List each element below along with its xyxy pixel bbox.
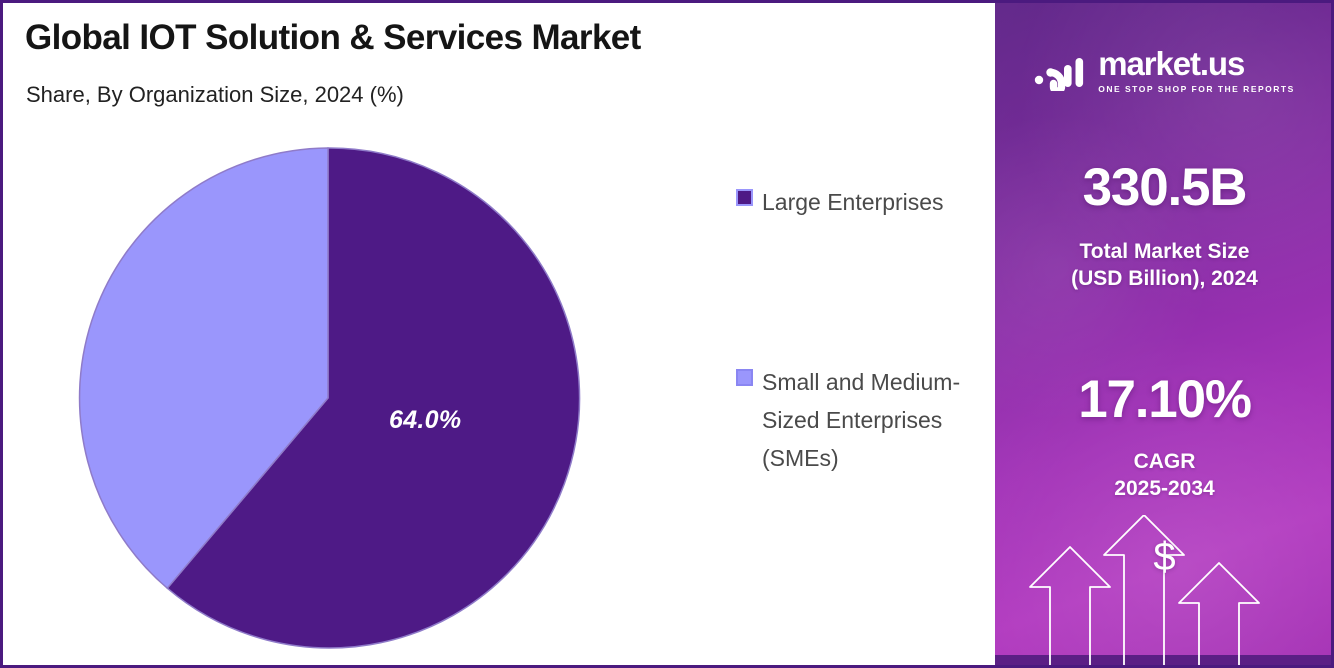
legend-swatch-icon-large-enterprises (736, 189, 753, 206)
legend-label-large-enterprises: Large Enterprises (762, 183, 944, 221)
chart-subtitle: Share, By Organization Size, 2024 (%) (26, 82, 404, 108)
stats-sidebar: market.us ONE STOP SHOP FOR THE REPORTS … (995, 3, 1334, 665)
logo-wordmark: market.us (1098, 47, 1295, 80)
legend-label-smes: Small and Medium-Sized Enterprises (SMEs… (762, 363, 977, 477)
legend-item-smes[interactable]: Small and Medium-Sized Enterprises (SMEs… (736, 363, 986, 477)
page-title: Global IOT Solution & Services Market (25, 18, 641, 58)
cagr-value: 17.10% (995, 373, 1334, 426)
chart-panel: Global IOT Solution & Services Market Sh… (3, 3, 995, 665)
legend-item-large-enterprises[interactable]: Large Enterprises (736, 183, 986, 221)
infographic-frame: Global IOT Solution & Services Market Sh… (0, 0, 1334, 668)
market-size-caption-line1: Total Market Size (995, 238, 1334, 265)
pie-slice-label-large-enterprises: 64.0% (389, 406, 461, 435)
pie-chart-svg (75, 145, 581, 651)
brand-logo[interactable]: market.us ONE STOP SHOP FOR THE REPORTS (995, 47, 1334, 94)
market-size-stat: 330.5B Total Market Size (USD Billion), … (995, 161, 1334, 292)
pie-chart (75, 145, 581, 651)
market-us-logo-icon (1034, 51, 1088, 91)
cagr-caption-line1: CAGR (995, 448, 1334, 475)
cagr-stat: 17.10% CAGR 2025-2034 (995, 373, 1334, 502)
market-size-value: 330.5B (995, 161, 1334, 214)
cagr-caption-line2: 2025-2034 (995, 475, 1334, 502)
market-size-caption-line2: (USD Billion), 2024 (995, 265, 1334, 292)
legend: Large Enterprises Small and Medium-Sized… (736, 183, 986, 477)
legend-swatch-icon-smes (736, 369, 753, 386)
dollar-sign-icon: $ (995, 535, 1334, 580)
logo-tagline: ONE STOP SHOP FOR THE REPORTS (1098, 84, 1295, 94)
